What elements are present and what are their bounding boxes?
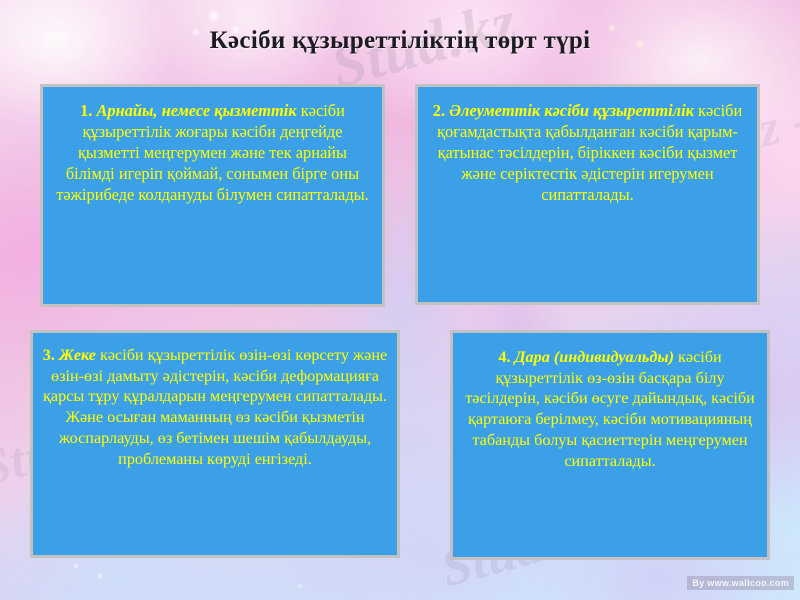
box-1-number: 1.	[80, 101, 92, 120]
competence-box-2: 2. Әлеуметтік кәсіби құзыреттілік кәсіби…	[415, 84, 760, 305]
competence-box-4: 4. Дара (индивидуальды) кәсіби құзыретті…	[450, 330, 770, 560]
slide-title: Кәсіби құзыреттіліктің төрт түрі	[0, 27, 800, 55]
box-3-number: 3.	[43, 346, 55, 364]
box-4-number: 4.	[498, 348, 510, 366]
competence-box-2-text: 2. Әлеуметтік кәсіби құзыреттілік кәсіби…	[427, 100, 748, 205]
box-4-emphasis: Дара (индивидуальды)	[515, 348, 675, 366]
box-3-rest: кәсіби құзыреттілік өзін-өзі көрсету жән…	[43, 346, 387, 468]
box-2-number: 2.	[433, 101, 445, 120]
box-2-emphasis: Әлеуметтік кәсіби құзыреттілік	[449, 101, 694, 120]
watermark-credit: By www.wallcoo.com	[687, 576, 794, 590]
box-3-emphasis: Жеке	[59, 346, 96, 364]
box-4-rest: кәсіби құзыреттілік өз-өзін басқара білу…	[465, 348, 755, 470]
competence-box-3: 3. Жеке кәсіби құзыреттілік өзін-өзі көр…	[30, 330, 400, 558]
competence-box-1: 1. Арнайы, немесе қызметтік кәсіби құзыр…	[40, 84, 385, 307]
box-1-emphasis: Арнайы, немесе қызметтік	[97, 101, 297, 120]
competence-box-1-text: 1. Арнайы, немесе қызметтік кәсіби құзыр…	[52, 100, 373, 205]
competence-box-4-text: 4. Дара (индивидуальды) кәсіби құзыретті…	[462, 347, 758, 471]
competence-box-3-text: 3. Жеке кәсіби құзыреттілік өзін-өзі көр…	[42, 345, 388, 469]
